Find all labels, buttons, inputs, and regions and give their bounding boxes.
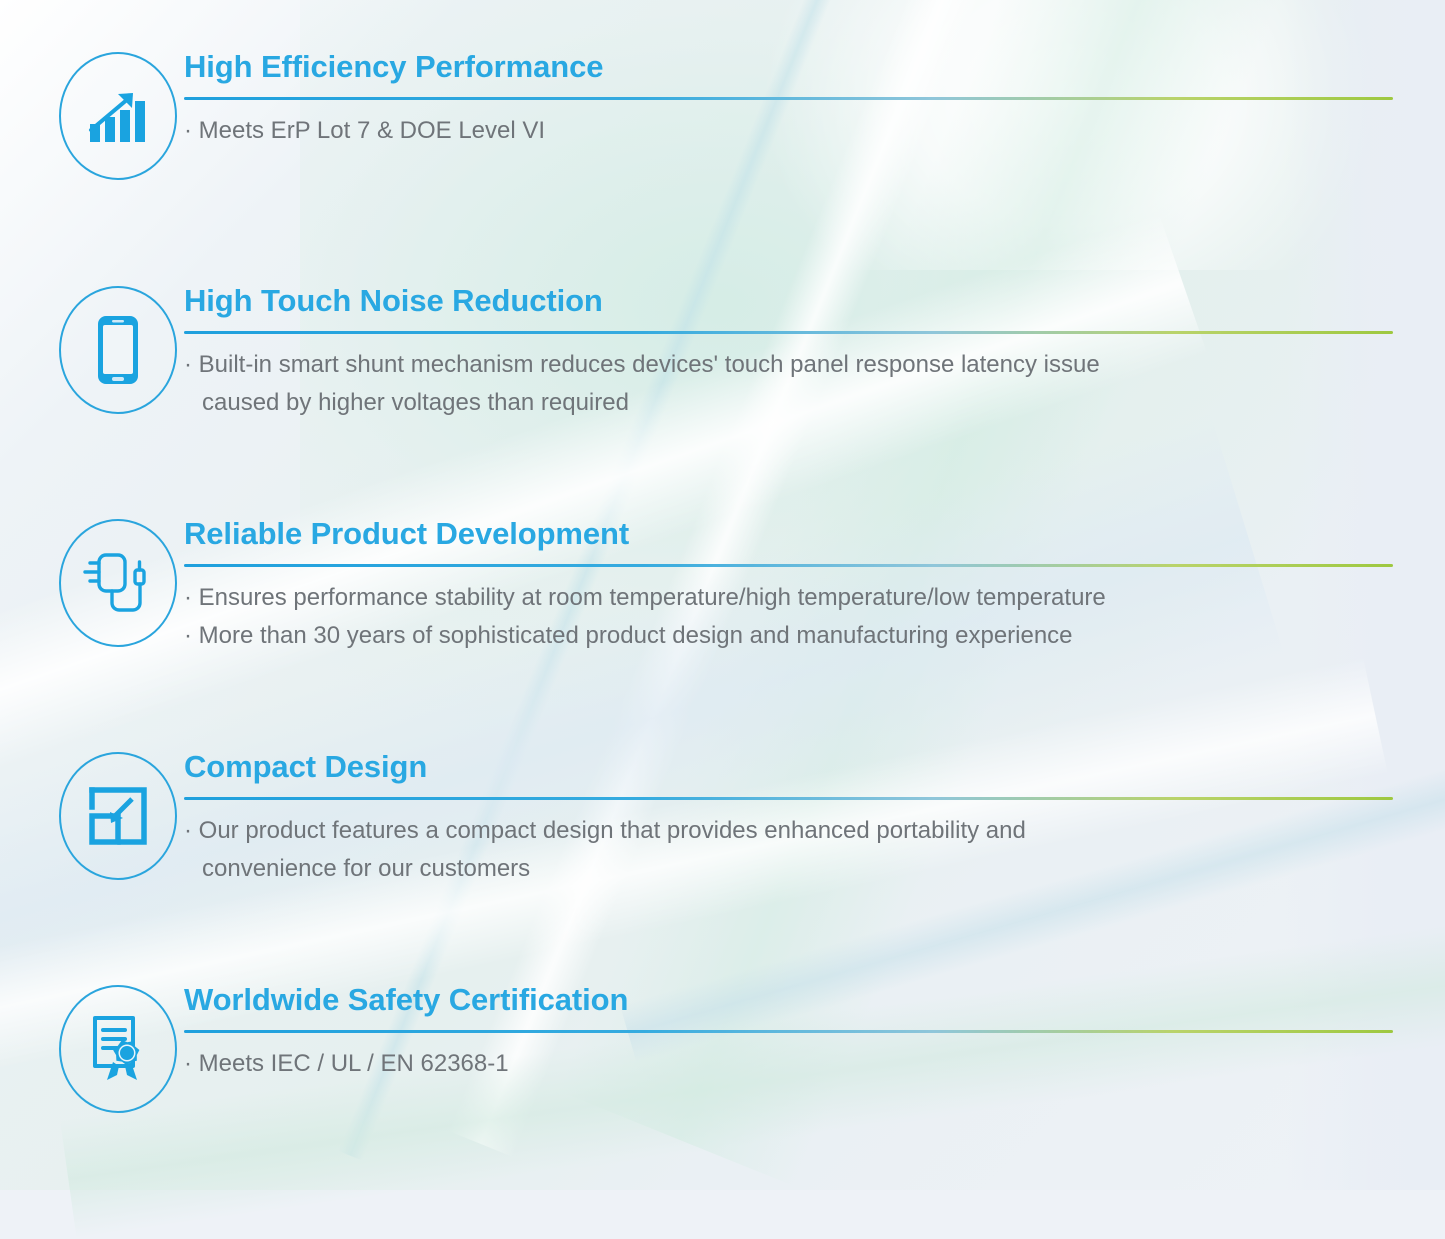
feature-icon-wrap [52,748,184,880]
feature-bullet: · Our product features a compact design … [184,812,1393,850]
feature-bullets: · Meets ErP Lot 7 & DOE Level VI [184,112,1393,150]
feature-bullet: · Meets ErP Lot 7 & DOE Level VI [184,112,1393,150]
feature-bullets: · Meets IEC / UL / EN 62368-1 [184,1045,1393,1083]
feature-bullet: · Built-in smart shunt mechanism reduces… [184,346,1393,384]
feature-item-high-efficiency-performance: High Efficiency Performance · Meets ErP … [52,48,1393,180]
feature-item-worldwide-safety-certification: Worldwide Safety Certification · Meets I… [52,981,1393,1113]
feature-title: High Touch Noise Reduction [184,284,1393,319]
feature-body: Reliable Product Development · Ensures p… [184,515,1393,656]
feature-divider [184,564,1393,567]
feature-list: High Efficiency Performance · Meets ErP … [0,0,1445,1190]
feature-icon-wrap [52,282,184,414]
feature-item-high-touch-noise-reduction: High Touch Noise Reduction · Built-in sm… [52,282,1393,423]
feature-item-reliable-product-development: Reliable Product Development · Ensures p… [52,515,1393,656]
feature-title: High Efficiency Performance [184,50,1393,85]
feature-body: High Efficiency Performance · Meets ErP … [184,48,1393,150]
smartphone-icon [59,286,177,414]
feature-divider [184,1030,1393,1033]
feature-bullet: · Ensures performance stability at room … [184,579,1393,617]
feature-icon-wrap [52,981,184,1113]
feature-item-compact-design: Compact Design · Our product features a … [52,748,1393,889]
feature-divider [184,797,1393,800]
bar-chart-growth-icon [59,52,177,180]
feature-title: Worldwide Safety Certification [184,983,1393,1018]
feature-bullet-continuation: convenience for our customers [184,850,1393,888]
feature-body: High Touch Noise Reduction · Built-in sm… [184,282,1393,423]
feature-icon-wrap [52,48,184,180]
feature-bullets: · Ensures performance stability at room … [184,579,1393,656]
feature-divider [184,331,1393,334]
feature-icon-wrap [52,515,184,647]
feature-title: Reliable Product Development [184,517,1393,552]
feature-bullets: · Built-in smart shunt mechanism reduces… [184,346,1393,423]
compact-resize-icon [59,752,177,880]
feature-divider [184,97,1393,100]
feature-bullet: · Meets IEC / UL / EN 62368-1 [184,1045,1393,1083]
feature-bullets: · Our product features a compact design … [184,812,1393,889]
feature-bullet-continuation: caused by higher voltages than required [184,384,1393,422]
feature-bullet: · More than 30 years of sophisticated pr… [184,617,1393,655]
feature-body: Compact Design · Our product features a … [184,748,1393,889]
power-adapter-icon [59,519,177,647]
feature-title: Compact Design [184,750,1393,785]
feature-body: Worldwide Safety Certification · Meets I… [184,981,1393,1083]
certificate-award-icon [59,985,177,1113]
